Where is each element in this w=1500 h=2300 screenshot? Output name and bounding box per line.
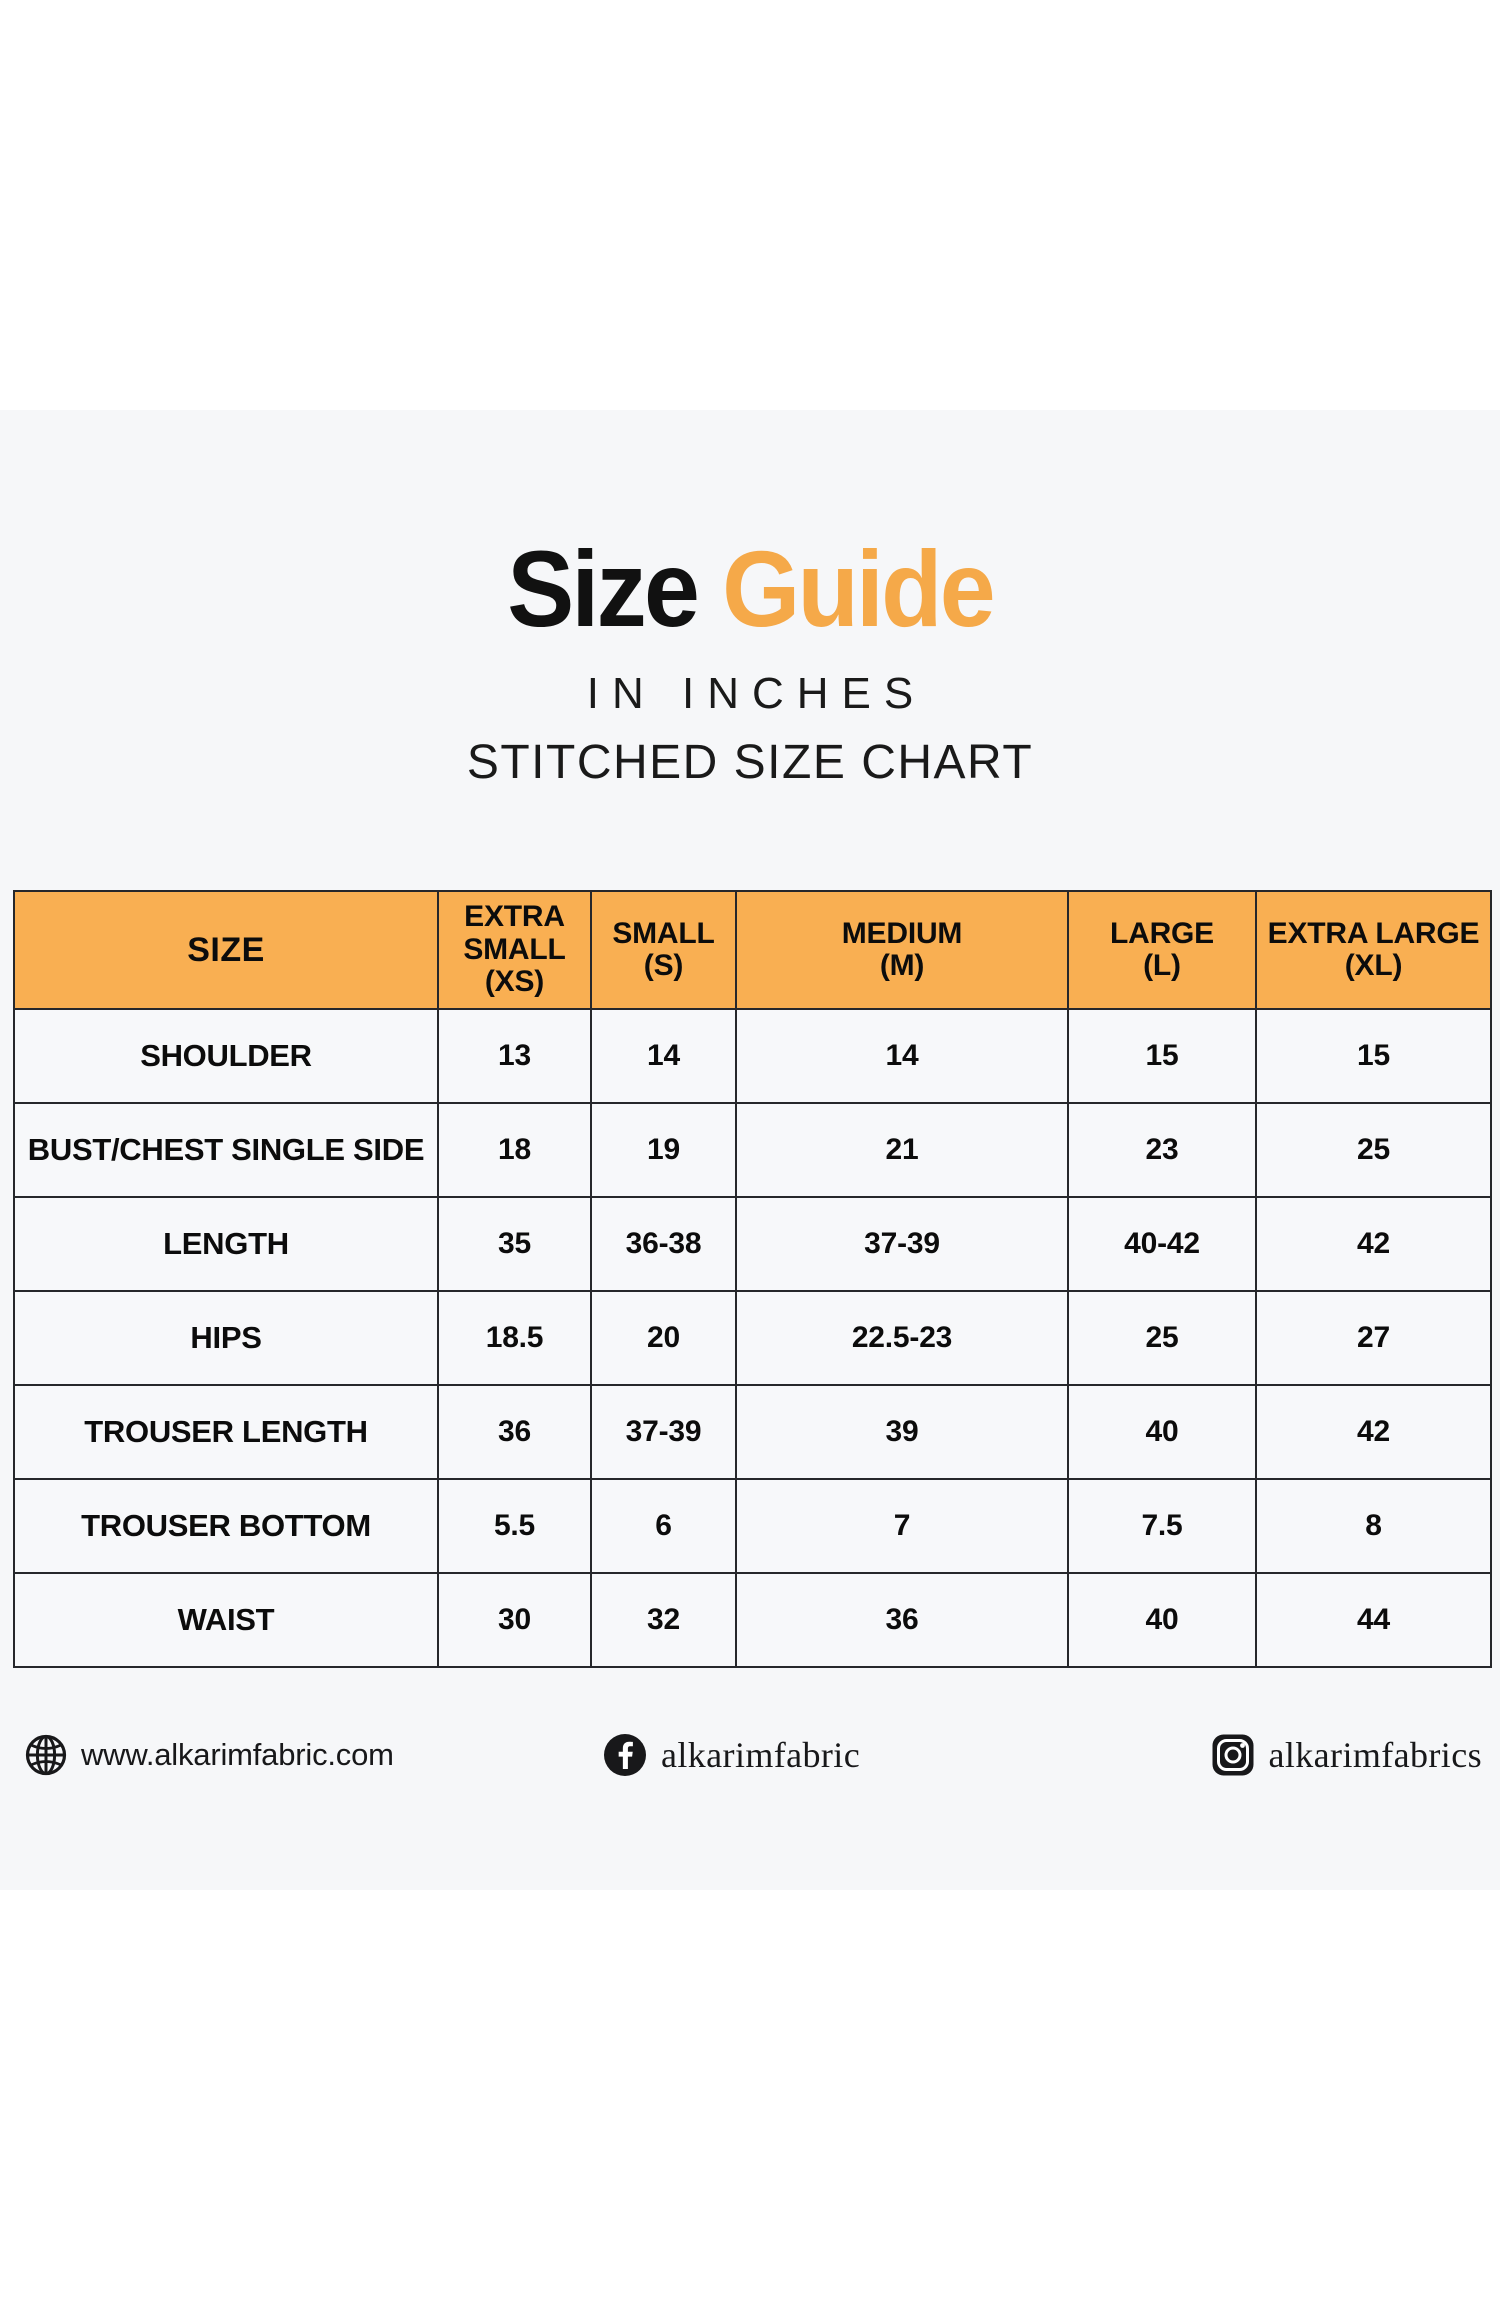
column-header-s-line1: SMALL	[612, 917, 714, 950]
table-row: TROUSER LENGTH 36 37-39 39 40 42	[14, 1385, 1491, 1479]
row-label: LENGTH	[14, 1197, 438, 1291]
content-panel: Size Guide IN INCHES STITCHED SIZE CHART…	[0, 410, 1500, 1890]
footer-contact-bar: www.alkarimfabric.com alkarimfabric alka…	[13, 1720, 1490, 1790]
cell-s: 37-39	[591, 1385, 736, 1479]
cell-l: 40-42	[1068, 1197, 1256, 1291]
cell-s: 32	[591, 1573, 736, 1667]
cell-s: 6	[591, 1479, 736, 1573]
cell-m: 37-39	[736, 1197, 1068, 1291]
cell-xl: 8	[1256, 1479, 1491, 1573]
row-label: TROUSER LENGTH	[14, 1385, 438, 1479]
instagram-icon	[1211, 1733, 1255, 1777]
column-header-l-line1: LARGE	[1110, 917, 1214, 950]
table-row: SHOULDER 13 14 14 15 15	[14, 1009, 1491, 1103]
row-label: WAIST	[14, 1573, 438, 1667]
facebook-label: alkarimfabric	[661, 1734, 860, 1776]
column-header-l: LARGE (L)	[1068, 891, 1256, 1009]
cell-l: 40	[1068, 1573, 1256, 1667]
cell-xs: 5.5	[438, 1479, 591, 1573]
cell-m: 14	[736, 1009, 1068, 1103]
cell-xl: 25	[1256, 1103, 1491, 1197]
page-title-accent: Guide	[722, 528, 993, 649]
cell-l: 23	[1068, 1103, 1256, 1197]
table-row: HIPS 18.5 20 22.5-23 25 27	[14, 1291, 1491, 1385]
column-header-m-line1: MEDIUM	[842, 917, 962, 950]
cell-s: 20	[591, 1291, 736, 1385]
cell-l: 7.5	[1068, 1479, 1256, 1573]
website-label: www.alkarimfabric.com	[81, 1737, 394, 1773]
cell-l: 25	[1068, 1291, 1256, 1385]
cell-s: 14	[591, 1009, 736, 1103]
subtitle-chart: STITCHED SIZE CHART	[0, 735, 1500, 790]
table-row: LENGTH 35 36-38 37-39 40-42 42	[14, 1197, 1491, 1291]
website-link[interactable]: www.alkarimfabric.com	[13, 1734, 495, 1776]
column-header-xl-line2: (XL)	[1345, 949, 1403, 982]
page-title: Size Guide	[53, 535, 1448, 643]
cell-l: 40	[1068, 1385, 1256, 1479]
cell-xl: 42	[1256, 1385, 1491, 1479]
row-label: HIPS	[14, 1291, 438, 1385]
row-label: BUST/CHEST SINGLE SIDE	[14, 1103, 438, 1197]
cell-m: 22.5-23	[736, 1291, 1068, 1385]
column-header-xs-line2: SMALL (XS)	[463, 933, 565, 998]
size-chart-table: SIZE EXTRA SMALL (XS) SMALL (S) MEDIUM (…	[13, 890, 1492, 1668]
row-label: TROUSER BOTTOM	[14, 1479, 438, 1573]
cell-xs: 35	[438, 1197, 591, 1291]
column-header-xs: EXTRA SMALL (XS)	[438, 891, 591, 1009]
cell-xs: 36	[438, 1385, 591, 1479]
cell-m: 7	[736, 1479, 1068, 1573]
cell-xl: 15	[1256, 1009, 1491, 1103]
title-block: Size Guide IN INCHES STITCHED SIZE CHART	[0, 535, 1500, 790]
cell-xs: 18	[438, 1103, 591, 1197]
cell-xs: 13	[438, 1009, 591, 1103]
cell-xs: 18.5	[438, 1291, 591, 1385]
column-header-xs-line1: EXTRA	[464, 900, 565, 933]
subtitle-units: IN INCHES	[0, 669, 1500, 719]
column-header-s: SMALL (S)	[591, 891, 736, 1009]
table-row: WAIST 30 32 36 40 44	[14, 1573, 1491, 1667]
facebook-link[interactable]: alkarimfabric	[495, 1733, 1123, 1777]
cell-m: 39	[736, 1385, 1068, 1479]
column-header-m: MEDIUM (M)	[736, 891, 1068, 1009]
cell-m: 36	[736, 1573, 1068, 1667]
column-header-xl: EXTRA LARGE (XL)	[1256, 891, 1491, 1009]
cell-xl: 44	[1256, 1573, 1491, 1667]
instagram-link[interactable]: alkarimfabrics	[1123, 1733, 1490, 1777]
column-header-xl-line1: EXTRA LARGE	[1268, 917, 1480, 950]
instagram-label: alkarimfabrics	[1269, 1734, 1483, 1776]
cell-m: 21	[736, 1103, 1068, 1197]
size-guide-page: Size Guide IN INCHES STITCHED SIZE CHART…	[0, 0, 1500, 2300]
facebook-icon	[603, 1733, 647, 1777]
cell-xl: 27	[1256, 1291, 1491, 1385]
table-body: SHOULDER 13 14 14 15 15 BUST/CHEST SINGL…	[14, 1009, 1491, 1667]
table-header-row: SIZE EXTRA SMALL (XS) SMALL (S) MEDIUM (…	[14, 891, 1491, 1009]
globe-icon	[25, 1734, 67, 1776]
row-label: SHOULDER	[14, 1009, 438, 1103]
column-header-m-line2: (M)	[880, 949, 924, 982]
cell-xs: 30	[438, 1573, 591, 1667]
column-header-size: SIZE	[14, 891, 438, 1009]
cell-l: 15	[1068, 1009, 1256, 1103]
cell-s: 36-38	[591, 1197, 736, 1291]
table-row: BUST/CHEST SINGLE SIDE 18 19 21 23 25	[14, 1103, 1491, 1197]
table-row: TROUSER BOTTOM 5.5 6 7 7.5 8	[14, 1479, 1491, 1573]
cell-s: 19	[591, 1103, 736, 1197]
cell-xl: 42	[1256, 1197, 1491, 1291]
table-head: SIZE EXTRA SMALL (XS) SMALL (S) MEDIUM (…	[14, 891, 1491, 1009]
column-header-s-line2: (S)	[644, 949, 683, 982]
page-title-dark: Size	[507, 528, 697, 649]
column-header-l-line2: (L)	[1143, 949, 1181, 982]
